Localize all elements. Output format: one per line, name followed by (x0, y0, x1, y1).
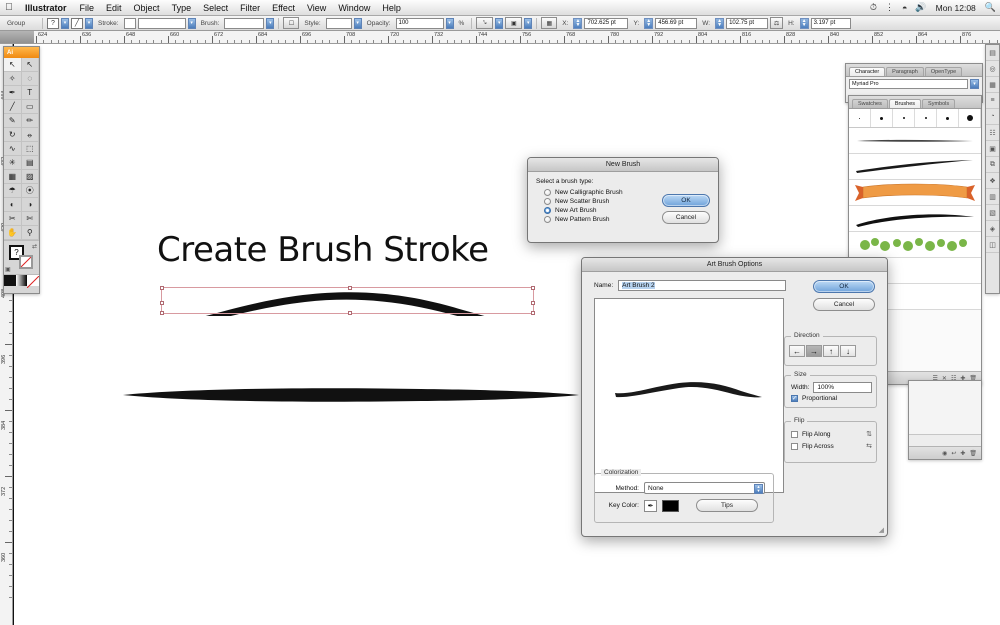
ruler-tick-minor (967, 40, 968, 43)
slice-tool[interactable]: ✂ (4, 212, 22, 226)
ruler-label: 708 (344, 31, 355, 39)
colorization-group-title: Colorization (601, 469, 641, 476)
ruler-label: 816 (740, 31, 751, 39)
ruler-tick-minor (9, 531, 12, 532)
art-brush-item[interactable] (849, 206, 981, 232)
tips-button[interactable]: Tips (696, 499, 758, 512)
calligraphic-brush-item[interactable] (915, 109, 937, 127)
tab-paragraph[interactable]: Paragraph (886, 67, 924, 76)
calligraphic-brush-item[interactable] (849, 109, 871, 127)
ruler-tick-minor (175, 40, 176, 43)
h-stepper[interactable]: ▲▼ (800, 18, 809, 29)
ruler-tick-minor (9, 520, 12, 521)
ruler-tick-minor (615, 40, 616, 43)
calligraphic-brush-item[interactable] (871, 109, 893, 127)
ruler-tick (5, 542, 12, 543)
ruler-tick-minor (9, 597, 12, 598)
fill-stroke-swatches[interactable]: ? ⇄ ▣ (4, 240, 39, 274)
scissors-tool[interactable]: ✄ (22, 212, 40, 226)
stroke-swatch-large[interactable] (19, 255, 33, 269)
warp-tool[interactable]: ∿ (4, 142, 22, 156)
menu-type[interactable]: Type (166, 3, 198, 13)
ruler-tick-minor (161, 40, 162, 43)
ruler-tick-minor (293, 40, 294, 43)
ruler-tick-minor (9, 553, 12, 554)
ruler-tick-minor (9, 366, 12, 367)
method-row[interactable]: Method: None ▲▼ (595, 474, 773, 494)
gradient-tool[interactable]: ▨ (22, 170, 40, 184)
ruler-tick-minor (9, 421, 12, 422)
gradient-swatch[interactable] (16, 275, 28, 286)
proportional-row[interactable]: ✓ Proportional (785, 393, 876, 402)
ruler-tick-minor (241, 40, 242, 43)
ruler-tick-minor (9, 377, 12, 378)
rotate-tool[interactable]: ↻ (4, 128, 22, 142)
fill-popup-arrow[interactable]: ▾ (61, 18, 69, 29)
ruler-tick-minor (439, 40, 440, 43)
chevron-updown-icon[interactable]: ▲▼ (754, 484, 763, 494)
colorization-group: Colorization Method: None ▲▼ Key Color: … (594, 473, 774, 523)
symbol-sprayer-tool[interactable]: ✳ (4, 156, 22, 170)
direction-buttons[interactable]: ← → ↑ ↓ (785, 337, 876, 357)
art-brush-item[interactable] (849, 154, 981, 180)
brush-thumbnail (853, 181, 977, 206)
free-transform-tool[interactable]: ⬚ (22, 142, 40, 156)
default-fill-stroke-icon[interactable]: ▣ (5, 266, 11, 273)
ruler-tick-minor (9, 333, 12, 334)
handle-bottom-right[interactable] (531, 311, 535, 315)
menu-object[interactable]: Object (128, 3, 166, 13)
opacity-field[interactable]: 100 (396, 18, 444, 29)
y-stepper[interactable]: ▲▼ (644, 18, 653, 29)
dock-panel-icon[interactable]: ▣ (986, 141, 999, 157)
arrow-down-icon[interactable]: ↓ (840, 345, 856, 357)
ruler-label: 780 (608, 31, 619, 39)
brush-name-input[interactable]: Art Brush 2 (618, 280, 786, 291)
ruler-tick-minor (469, 40, 470, 43)
style-label: Style: (301, 20, 323, 27)
color-swatch[interactable] (4, 275, 16, 286)
ruler-label: 360 (1, 553, 7, 562)
ruler-label: 684 (256, 31, 267, 39)
w-stepper[interactable]: ▲▼ (715, 18, 724, 29)
ruler-tick-minor (579, 40, 580, 43)
ruler-tick-minor (733, 40, 734, 43)
dock-panel-icon[interactable]: ≡ (986, 93, 999, 109)
menu-file[interactable]: File (74, 3, 101, 13)
dock-panel-icon[interactable]: ◈ (986, 221, 999, 237)
secondary-panel[interactable]: ◉ ↩ ✚ 🗑 (908, 380, 982, 460)
panel-dock-strip[interactable]: ▤◎▦≡◔☷▣⧉❖▥▧◈◫ (985, 44, 1000, 294)
handle-mid-right[interactable] (531, 301, 535, 305)
ruler-label: 648 (124, 31, 135, 39)
tab-opentype[interactable]: OpenType (925, 67, 962, 76)
radio-icon[interactable] (544, 216, 551, 223)
art-brush-item[interactable] (849, 180, 981, 206)
ruler-tick-minor (513, 40, 514, 43)
ruler-tick-minor (681, 40, 682, 43)
width-row[interactable]: Width: 100% (785, 376, 876, 393)
menu-help[interactable]: Help (376, 3, 407, 13)
volume-icon[interactable]: 🔊 (911, 2, 930, 13)
ruler-label: 720 (388, 31, 399, 39)
calligraphic-brush-item[interactable] (937, 109, 959, 127)
flip-across-row[interactable]: Flip Across ⇆ (785, 438, 876, 450)
ruler-tick-minor (894, 40, 895, 43)
column-graph-tool[interactable]: ▤ (22, 156, 40, 170)
stroke-weight-stepper[interactable] (124, 18, 136, 29)
tools-grid[interactable]: ↖↖✧◌✒T╱▭✎✏↻⦵∿⬚✳▤▦▨☂⦿◐◑✂✄✋⚲ (4, 58, 39, 240)
selection-bounding-box[interactable] (161, 287, 534, 314)
ruler-tick (5, 410, 12, 411)
ruler-tick-minor (982, 40, 983, 43)
ruler-tick-minor (718, 40, 719, 43)
arrow-up-icon[interactable]: ↑ (823, 345, 839, 357)
ruler-label: 840 (828, 31, 839, 39)
dock-panel-icon[interactable]: ☷ (986, 125, 999, 141)
art-brush-options-dialog[interactable]: Art Brush Options Name: Art Brush 2 OK C… (581, 257, 888, 537)
stroke-swatch[interactable]: ╱ (71, 18, 83, 29)
ruler-tick-minor (425, 40, 426, 43)
size-group: Size Width: 100% ✓ Proportional (784, 375, 877, 408)
ruler-tick-minor (857, 40, 858, 43)
menu-filter[interactable]: Filter (234, 3, 266, 13)
ruler-tick-minor (975, 40, 976, 43)
secondary-panel-footer[interactable]: ◉ ↩ ✚ 🗑 (909, 446, 981, 459)
ruler-tick-minor (989, 40, 990, 43)
brushes-panel-tabs[interactable]: Swatches Brushes Symbols (849, 96, 981, 109)
paintbrush-tool[interactable]: ✎ (4, 114, 22, 128)
new-brush-cancel-button[interactable]: Cancel (662, 211, 710, 224)
size-group-title: Size (791, 371, 810, 378)
font-family-row[interactable]: Myriad Pro ▾ (846, 77, 982, 91)
width-label: Width: (791, 384, 809, 391)
brush-name-row[interactable]: Name: Art Brush 2 (594, 280, 786, 291)
lock-proportions-icon[interactable]: ⚖ (770, 17, 783, 29)
new-layer-icon[interactable]: ✚ (960, 450, 965, 457)
stroke-popup-arrow[interactable]: ▾ (85, 18, 93, 29)
apple-menu-icon[interactable]:  (0, 3, 18, 13)
menu-window[interactable]: Window (332, 3, 376, 13)
mesh-tool[interactable]: ▦ (4, 170, 22, 184)
type-tool[interactable]: T (22, 86, 40, 100)
align-tool-icon[interactable]: ⤥ (476, 17, 493, 29)
ruler-tick-minor (205, 40, 206, 43)
brush-thumbnail (925, 117, 927, 119)
blend-tool[interactable]: ⦿ (22, 184, 40, 198)
ruler-label: 864 (916, 31, 927, 39)
rectangle-tool[interactable]: ▭ (22, 100, 40, 114)
ruler-origin-corner[interactable] (0, 31, 34, 44)
ruler-tick-minor (337, 40, 338, 43)
dock-panel-icon[interactable]: ◔ (986, 109, 999, 125)
ruler-label: 828 (784, 31, 795, 39)
art-brush-item[interactable] (849, 128, 981, 154)
ruler-label: 696 (300, 31, 311, 39)
new-brush-ok-button[interactable]: OK (662, 194, 710, 207)
proportional-label: Proportional (802, 395, 837, 402)
radio-label: New Pattern Brush (555, 216, 610, 223)
ruler-tick-minor (403, 40, 404, 43)
ruler-tick-minor (65, 40, 66, 43)
w-field[interactable]: 102.75 pt (726, 18, 768, 29)
layer-target-icon[interactable]: ↩ (951, 450, 956, 457)
ruler-tick-minor (95, 40, 96, 43)
zoom-tool[interactable]: ⚲ (22, 226, 40, 240)
font-family-arrow[interactable]: ▾ (970, 79, 979, 89)
calligraphic-brush-item[interactable] (893, 109, 915, 127)
resize-grip-icon[interactable]: ◢ (879, 526, 884, 534)
ruler-tick-minor (997, 40, 998, 43)
ruler-tick-minor (623, 40, 624, 43)
brush-preview-box[interactable] (594, 298, 784, 493)
menubar-clock[interactable]: Mon 12:08 (931, 3, 981, 13)
ruler-tick-minor (417, 40, 418, 43)
ruler-tick-minor (227, 40, 228, 43)
handle-bottom-center[interactable] (348, 311, 352, 315)
hand-tool[interactable]: ✋ (4, 226, 22, 240)
ruler-tick-minor (278, 40, 279, 43)
tab-swatches[interactable]: Swatches (852, 99, 888, 108)
ruler-label: 384 (1, 421, 7, 430)
style-field[interactable] (326, 18, 352, 29)
handle-top-right[interactable] (531, 286, 535, 290)
ruler-tick-minor (659, 40, 660, 43)
brush-thumbnail (967, 115, 973, 121)
flip-along-checkbox[interactable] (791, 431, 798, 438)
ruler-tick-minor (571, 40, 572, 43)
ruler-tick-minor (58, 40, 59, 43)
key-color-row[interactable]: Key Color: ✒ Tips (595, 494, 773, 512)
color-mode-row[interactable] (4, 274, 39, 286)
art-brush-item[interactable] (849, 232, 981, 258)
ruler-label: 396 (1, 355, 7, 364)
brush-thumbnail (853, 155, 977, 180)
ruler-tick-minor (938, 40, 939, 43)
arrow-right-icon[interactable]: → (806, 345, 822, 357)
search-icon[interactable]: 🔍 (981, 2, 1000, 13)
arrow-left-icon[interactable]: ← (789, 345, 805, 357)
eyedropper-tool[interactable]: ☂ (4, 184, 22, 198)
ruler-tick-minor (9, 454, 12, 455)
calligraphic-brush-item[interactable] (959, 109, 981, 127)
live-paint-bucket-tool[interactable]: ◐ (4, 198, 22, 212)
dock-panel-icon[interactable]: ▧ (986, 205, 999, 221)
ruler-tick-minor (454, 40, 455, 43)
ruler-tick-minor (315, 40, 316, 43)
ruler-tick-minor (9, 443, 12, 444)
layer-visibility-icon[interactable]: ◉ (942, 450, 947, 457)
align-arrow[interactable]: ▾ (495, 18, 503, 29)
ruler-tick-minor (109, 40, 110, 43)
transparency-icon[interactable]: ☐ (283, 17, 299, 29)
x-label: X: (559, 20, 571, 27)
ruler-tick-minor (9, 498, 12, 499)
stroke-weight-arrow[interactable]: ▾ (188, 18, 196, 29)
menu-view[interactable]: View (301, 3, 332, 13)
font-family-field[interactable]: Myriad Pro (849, 79, 968, 89)
ruler-tick-minor (711, 40, 712, 43)
handle-top-left[interactable] (160, 286, 164, 290)
brush-thumbnail (859, 118, 860, 119)
art-brush-cancel-button[interactable]: Cancel (813, 298, 875, 311)
ruler-tick-minor (769, 40, 770, 43)
handle-bottom-left[interactable] (160, 311, 164, 315)
fill-swatch[interactable]: ? (47, 18, 59, 29)
scale-tool[interactable]: ⦵ (22, 128, 40, 142)
radio-label: New Art Brush (555, 207, 597, 214)
divider (42, 18, 43, 29)
menu-app-name[interactable]: Illustrator (18, 3, 74, 13)
ruler-tick-minor (322, 40, 323, 43)
ruler-tick-minor (601, 40, 602, 43)
ruler-tick-minor (102, 40, 103, 43)
key-color-swatch[interactable] (662, 500, 679, 512)
pencil-tool[interactable]: ✏ (22, 114, 40, 128)
ruler-tick-minor (557, 40, 558, 43)
flip-along-row[interactable]: Flip Along ⇅ (785, 422, 876, 438)
ruler-tick-minor (542, 40, 543, 43)
stroke-weight-field[interactable] (138, 18, 186, 29)
ruler-tick-minor (9, 465, 12, 466)
selection-tool[interactable]: ↖ (4, 58, 22, 72)
radio-icon[interactable] (544, 189, 551, 196)
opacity-arrow[interactable]: ▾ (446, 18, 454, 29)
ruler-tick-minor (630, 40, 631, 43)
dock-panel-icon[interactable]: ⧉ (986, 157, 999, 173)
selection-type-label: Group (4, 20, 38, 27)
bluetooth-icon[interactable]: ⋮ (881, 2, 898, 13)
headline-text[interactable]: Create Brush Stroke (157, 230, 489, 270)
dock-panel-icon[interactable]: ❖ (986, 173, 999, 189)
radio-icon-selected[interactable] (544, 207, 551, 214)
ruler-label: 852 (872, 31, 883, 39)
method-select[interactable]: None ▲▼ (644, 482, 765, 494)
ruler-tick-minor (285, 40, 286, 43)
horizontal-ruler[interactable]: 6246366486606726846967087207327447567687… (0, 31, 1000, 44)
x-field[interactable]: 702.625 pt (584, 18, 628, 29)
ruler-tick-minor (9, 586, 12, 587)
ruler-tick-minor (329, 40, 330, 43)
menu-select[interactable]: Select (197, 3, 234, 13)
ruler-tick-minor (593, 40, 594, 43)
brush-thumbnail (903, 117, 905, 119)
ruler-tick-minor (373, 40, 374, 43)
lasso-tool[interactable]: ◌ (22, 72, 40, 86)
ruler-tick-minor (131, 40, 132, 43)
reference-point-icon[interactable]: ▦ (541, 17, 557, 29)
ruler-tick-minor (271, 40, 272, 43)
handle-top-center[interactable] (348, 286, 352, 290)
ruler-tick (5, 344, 12, 345)
brush-thumbnail (880, 117, 883, 120)
ruler-label: 732 (432, 31, 443, 39)
swap-fill-stroke-icon[interactable]: ⇄ (32, 243, 37, 250)
ruler-tick-minor (73, 40, 74, 43)
transform-tool-icon[interactable]: ▣ (505, 17, 522, 29)
flip-along-label: Flip Along (802, 431, 862, 438)
dock-panel-icon[interactable]: ▦ (986, 77, 999, 93)
none-swatch[interactable] (27, 275, 39, 286)
live-paint-selection-tool[interactable]: ◑ (22, 198, 40, 212)
x-stepper[interactable]: ▲▼ (573, 18, 582, 29)
divider (536, 18, 537, 29)
ruler-label: 876 (960, 31, 971, 39)
ruler-tick-minor (879, 40, 880, 43)
tools-panel-header[interactable]: Ai (4, 47, 39, 58)
ruler-tick (5, 476, 12, 477)
calligraphic-brushes-grid[interactable] (849, 109, 981, 128)
opacity-unit: % (456, 20, 468, 27)
y-field[interactable]: 456.69 pt (655, 18, 697, 29)
ruler-label: 672 (212, 31, 223, 39)
ruler-label: 792 (652, 31, 663, 39)
ruler-tick-minor (381, 40, 382, 43)
method-label: Method: (603, 485, 639, 492)
ruler-tick-minor (865, 40, 866, 43)
h-field[interactable]: 3.197 pt (811, 18, 851, 29)
ruler-tick-minor (87, 40, 88, 43)
w-label: W: (699, 20, 713, 27)
wifi-icon[interactable]: ◓ (898, 3, 911, 13)
ruler-tick-minor (703, 40, 704, 43)
ruler-tick-minor (843, 40, 844, 43)
radio-icon[interactable] (544, 198, 551, 205)
line-segment-tool[interactable]: ╱ (4, 100, 22, 114)
tab-symbols[interactable]: Symbols (922, 99, 955, 108)
handle-mid-left[interactable] (160, 301, 164, 305)
ruler-tick-minor (461, 40, 462, 43)
menu-effect[interactable]: Effect (266, 3, 301, 13)
ruler-label: 756 (520, 31, 531, 39)
eyedropper-icon[interactable]: ✒ (644, 500, 657, 512)
brush-preview-stroke (613, 379, 763, 405)
dock-panel-icon[interactable]: ◎ (986, 61, 999, 77)
ruler-tick-minor (527, 40, 528, 43)
opacity-label: Opacity: (364, 20, 394, 27)
brush-field[interactable] (224, 18, 264, 29)
tab-brushes[interactable]: Brushes (889, 99, 921, 108)
delete-layer-icon[interactable]: 🗑 (969, 450, 977, 457)
transform-arrow[interactable]: ▾ (524, 18, 532, 29)
width-input[interactable]: 100% (813, 382, 872, 393)
dock-panel-icon[interactable]: ▤ (986, 45, 999, 61)
flip-across-checkbox[interactable] (791, 443, 798, 450)
new-brush-dialog[interactable]: New Brush Select a brush type: New Calli… (527, 157, 719, 243)
pen-tool[interactable]: ✒ (4, 86, 22, 100)
flat-brush-stroke-shape[interactable] (121, 388, 581, 402)
proportional-checkbox[interactable]: ✓ (791, 395, 798, 402)
dock-panel-icon[interactable]: ◫ (986, 237, 999, 253)
art-brush-ok-button[interactable]: OK (813, 280, 875, 293)
ruler-tick-minor (901, 40, 902, 43)
direct-selection-tool[interactable]: ↖ (22, 58, 40, 72)
ruler-tick-minor (9, 322, 12, 323)
ruler-tick-minor (190, 40, 191, 43)
tab-character[interactable]: Character (849, 67, 885, 76)
ruler-label: 744 (476, 31, 487, 39)
menu-edit[interactable]: Edit (100, 3, 128, 13)
magic-wand-tool[interactable]: ✧ (4, 72, 22, 86)
style-arrow[interactable]: ▾ (354, 18, 362, 29)
dock-panel-icon[interactable]: ▥ (986, 189, 999, 205)
timemachine-icon[interactable]: ⏱ (866, 2, 881, 13)
ruler-tick-minor (447, 40, 448, 43)
character-panel-tabs[interactable]: Character Paragraph OpenType (846, 64, 982, 77)
tools-panel[interactable]: Ai ↖↖✧◌✒T╱▭✎✏↻⦵∿⬚✳▤▦▨☂⦿◐◑✂✄✋⚲ ? ⇄ ▣ (3, 46, 40, 294)
ruler-tick-minor (586, 40, 587, 43)
brush-arrow[interactable]: ▾ (266, 18, 274, 29)
